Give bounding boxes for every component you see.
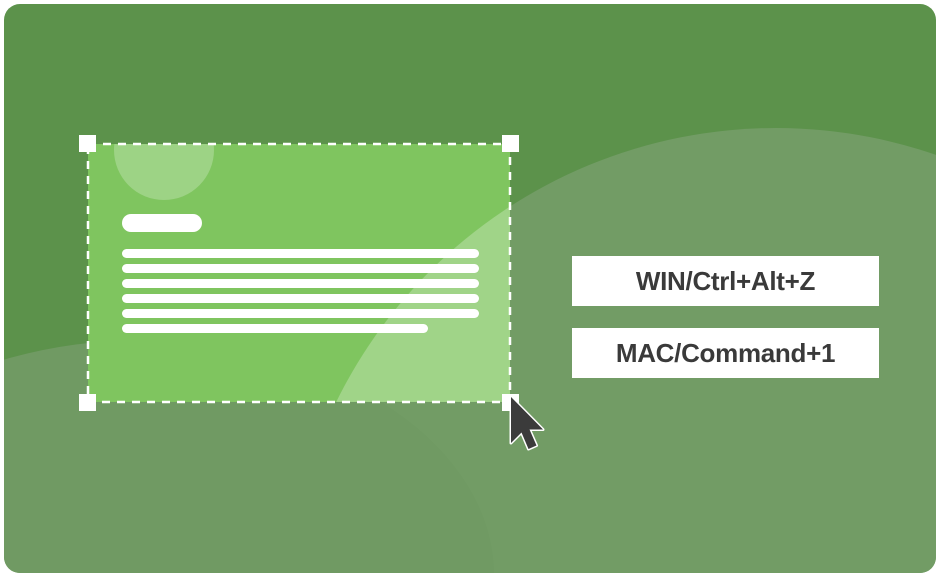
skeleton-text-line [122, 309, 479, 318]
decorative-overlay-circle [286, 144, 510, 402]
shortcut-chip-windows: WIN/Ctrl+Alt+Z [572, 256, 879, 306]
resize-handle-top-right[interactable] [502, 135, 519, 152]
shortcut-chip-mac: MAC/Command+1 [572, 328, 879, 378]
skeleton-text-line [122, 324, 428, 333]
skeleton-text-line [122, 264, 479, 273]
resize-handle-bottom-right[interactable] [502, 394, 519, 411]
decorative-circle-small [114, 144, 214, 200]
illustration-stage: WIN/Ctrl+Alt+Z MAC/Command+1 [0, 0, 940, 577]
green-canvas: WIN/Ctrl+Alt+Z MAC/Command+1 [4, 4, 936, 573]
skeleton-text-line [122, 279, 479, 288]
document-preview-card [88, 144, 510, 402]
skeleton-title-bar [122, 214, 202, 232]
resize-handle-bottom-left[interactable] [79, 394, 96, 411]
resize-handle-top-left[interactable] [79, 135, 96, 152]
skeleton-text-line [122, 294, 479, 303]
shortcut-chip-mac-label: MAC/Command+1 [616, 338, 835, 369]
skeleton-text-line [122, 249, 479, 258]
shortcut-chip-windows-label: WIN/Ctrl+Alt+Z [636, 266, 815, 297]
shortcut-chip-list: WIN/Ctrl+Alt+Z MAC/Command+1 [572, 256, 879, 378]
screenshot-selection-region[interactable] [88, 144, 510, 402]
